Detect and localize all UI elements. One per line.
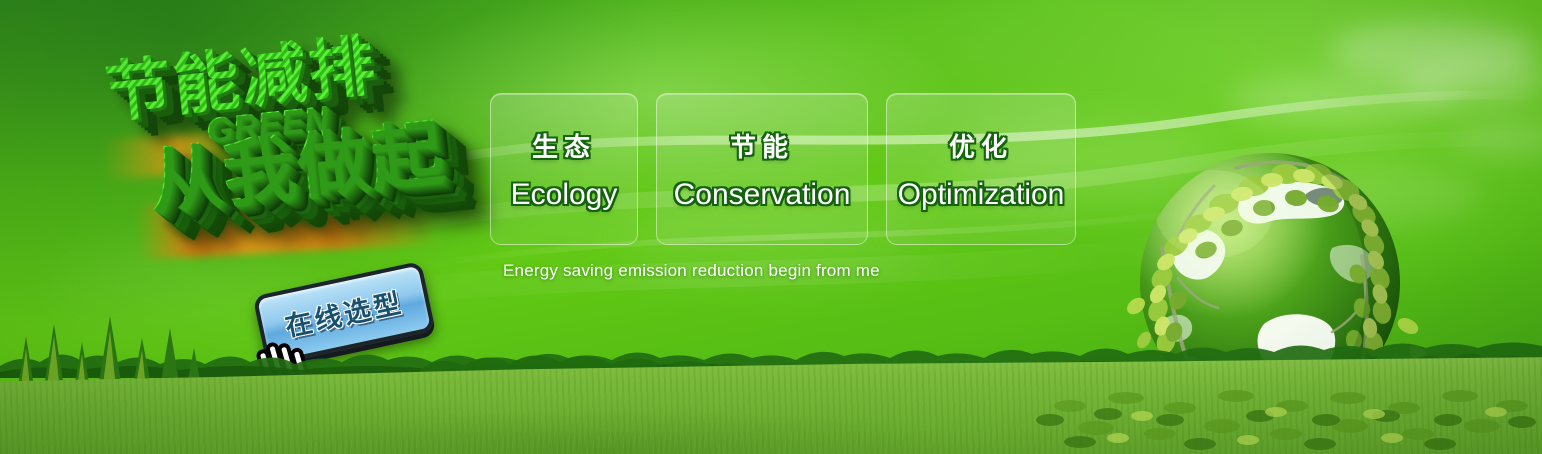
online-selection-button-label: 在线选型 [283, 288, 407, 342]
eco-promo-banner: 节能减排 GREEN 从我做起 在线选型 生态 Ecology 节能 Conse… [0, 0, 1542, 454]
feature-card-en-label: Optimization [898, 178, 1065, 212]
feature-card-conservation[interactable]: 节能 Conservation [656, 93, 868, 245]
feature-card-cn-label: 优化 [949, 127, 1013, 164]
feature-card-optimization[interactable]: 优化 Optimization [886, 93, 1076, 245]
leaf-litter-ground [1030, 372, 1542, 454]
banner-subtitle: Energy saving emission reduction begin f… [503, 261, 880, 281]
feature-card-list: 生态 Ecology 节能 Conservation 优化 Optimizati… [490, 93, 1076, 245]
cloud-icon [1230, 74, 1460, 124]
headline-3d: 节能减排 GREEN 从我做起 [88, 16, 512, 306]
feature-card-cn-label: 生态 [532, 127, 596, 164]
feature-card-en-label: Conservation [674, 178, 851, 212]
feature-card-en-label: Ecology [511, 178, 618, 212]
feature-card-ecology[interactable]: 生态 Ecology [490, 93, 638, 245]
feature-card-cn-label: 节能 [730, 127, 794, 164]
